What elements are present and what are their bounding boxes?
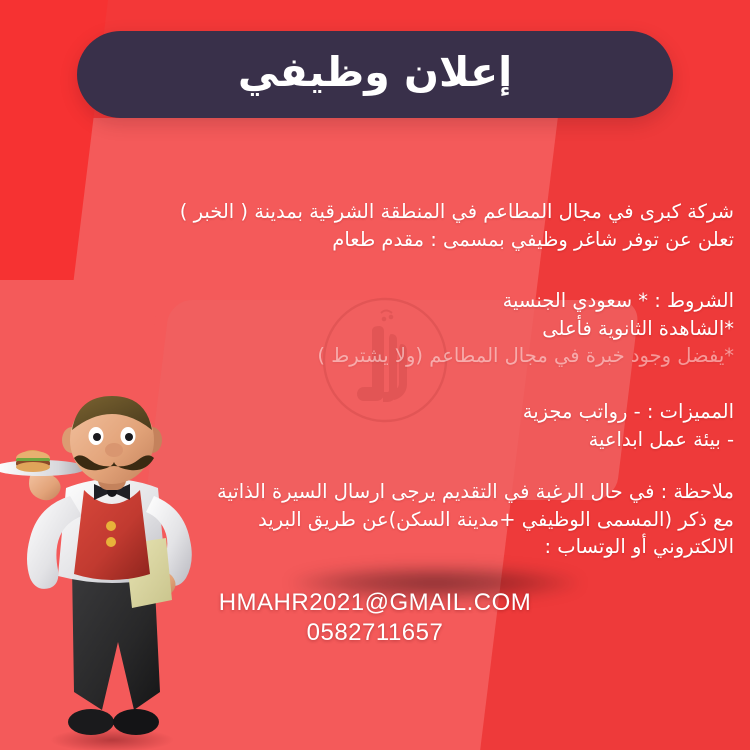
hand-front <box>86 541 124 571</box>
moustache <box>74 455 154 470</box>
pupil-left <box>93 433 101 441</box>
bowtie-right <box>112 484 130 500</box>
contact-phone[interactable]: 0582711657 <box>0 618 750 648</box>
eye-left <box>89 427 104 445</box>
vest-button-bottom <box>106 537 116 547</box>
bowtie-left <box>94 484 112 500</box>
job-advertisement-poster: إعلان وظيفي شركة كبرى في مجال المطاعم في… <box>0 0 750 750</box>
intro-paragraph: شركة كبرى في مجال المطاعم في المنطقة الش… <box>180 198 734 253</box>
background-panel-left-wedge <box>0 280 160 750</box>
nose <box>105 443 123 457</box>
character-ground-shadow <box>50 728 174 750</box>
conditions-line-1: الشروط : * سعودي الجنسية <box>317 287 734 315</box>
pupil-right <box>125 433 133 441</box>
burger-icon <box>16 450 50 472</box>
shoe-left <box>68 709 114 735</box>
ear-left <box>62 427 82 453</box>
hand-holding-plate <box>29 472 61 500</box>
poster-title-banner: إعلان وظيفي <box>77 31 673 118</box>
intro-line-2: تعلن عن توفر شاغر وظيفي بمسمى : مقدم طعا… <box>180 226 734 254</box>
benefits-line-2: - بيئة عمل ابداعية <box>523 426 734 454</box>
head <box>70 396 154 484</box>
conditions-line-3: *يفضل وجود خبرة في مجال المطاعم (ولا يشت… <box>317 342 734 370</box>
ear-right <box>142 427 162 453</box>
intro-line-1: شركة كبرى في مجال المطاعم في المنطقة الش… <box>180 198 734 226</box>
serving-plate <box>0 460 86 476</box>
shirt <box>58 479 166 583</box>
neck <box>98 464 126 490</box>
shoe-right <box>113 709 159 735</box>
page-title: إعلان وظيفي <box>238 52 512 93</box>
arm-lowered <box>146 496 192 586</box>
bowtie-knot <box>107 487 117 497</box>
waiter-character-illustration <box>0 392 230 750</box>
note-line-1: ملاحظة : في حال الرغبة في التقديم يرجى ا… <box>217 478 734 506</box>
benefits-paragraph: المميزات : - رواتب مجزية - بيئة عمل ابدا… <box>523 398 734 453</box>
hair <box>72 396 152 430</box>
benefits-line-1: المميزات : - رواتب مجزية <box>523 398 734 426</box>
vest-button-top <box>106 521 116 531</box>
note-line-2: مع ذكر (المسمى الوظيفي +مدينة السكن)عن ط… <box>217 506 734 534</box>
note-paragraph: ملاحظة : في حال الرغبة في التقديم يرجى ا… <box>217 478 734 561</box>
conditions-paragraph: الشروط : * سعودي الجنسية *الشاهدة الثانو… <box>317 287 734 370</box>
arm-raised <box>27 496 82 589</box>
contact-block: HMAHR2021@GMAIL.COM 0582711657 <box>0 588 750 648</box>
note-line-3: الالكتروني أو الوتساب : <box>217 533 734 561</box>
vest <box>74 490 150 580</box>
conditions-line-2: *الشاهدة الثانوية فأعلى <box>317 315 734 343</box>
contact-email[interactable]: HMAHR2021@GMAIL.COM <box>0 588 750 618</box>
eye-right <box>121 427 136 445</box>
